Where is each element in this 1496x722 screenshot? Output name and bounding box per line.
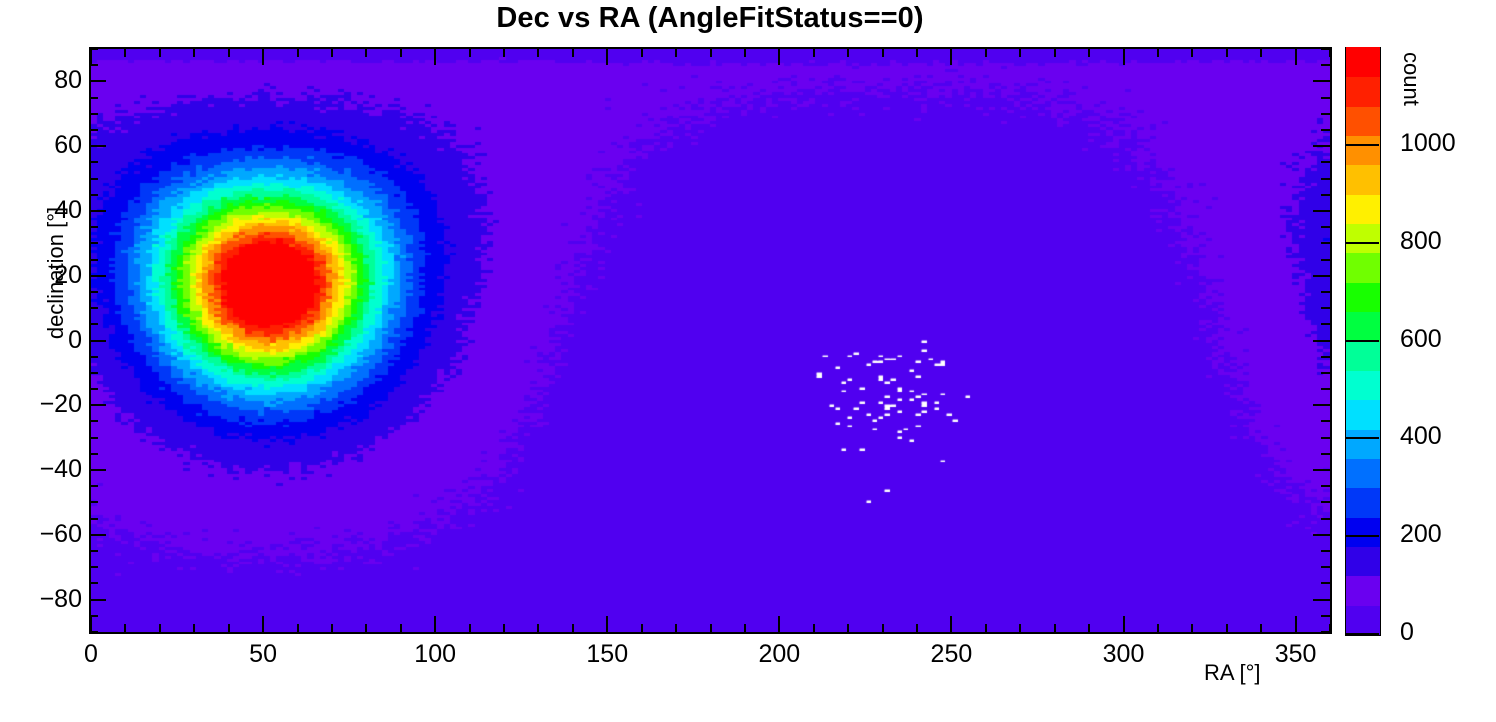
colorbar-band — [1346, 77, 1380, 107]
x-tick — [297, 624, 299, 633]
colorbar-tick-label: 0 — [1400, 620, 1414, 645]
y-tick — [89, 210, 106, 212]
y-tick-right — [1321, 420, 1330, 422]
x-tick — [434, 616, 436, 633]
x-tick-top — [365, 48, 367, 57]
y-tick-right — [1321, 161, 1330, 163]
x-tick-top — [950, 48, 952, 65]
y-tick — [89, 550, 98, 552]
colorbar-title: count — [1398, 52, 1424, 106]
x-axis-title: RA [°] — [1204, 660, 1260, 686]
y-tick-right — [1321, 259, 1330, 261]
x-tick — [1019, 624, 1021, 633]
y-tick-right — [1321, 437, 1330, 439]
colorbar-tick — [1345, 340, 1379, 342]
x-tick-top — [1191, 48, 1193, 57]
y-tick-label: −80 — [40, 587, 82, 612]
y-tick-right — [1321, 550, 1330, 552]
y-tick — [89, 453, 98, 455]
colorbar-band — [1346, 341, 1380, 371]
x-tick — [503, 624, 505, 633]
x-tick-top — [400, 48, 402, 57]
x-tick — [882, 624, 884, 633]
y-tick-right — [1321, 194, 1330, 196]
y-tick — [89, 161, 98, 163]
y-tick — [89, 145, 106, 147]
colorbar-tick — [1345, 144, 1379, 146]
y-tick — [89, 599, 106, 601]
x-tick — [1157, 624, 1159, 633]
colorbar-band — [1346, 546, 1380, 576]
colorbar-tick — [1345, 437, 1379, 439]
y-tick-right — [1321, 485, 1330, 487]
x-tick-top — [744, 48, 746, 57]
x-tick — [365, 624, 367, 633]
x-tick — [1123, 616, 1125, 633]
y-tick-right — [1321, 129, 1330, 131]
colorbar-tick-label: 200 — [1400, 522, 1442, 547]
x-tick — [1054, 624, 1056, 633]
y-tick-right — [1321, 97, 1330, 99]
y-tick-right — [1313, 534, 1330, 536]
x-tick — [985, 624, 987, 633]
y-tick-label: 80 — [54, 68, 82, 93]
colorbar-band — [1346, 576, 1380, 606]
x-tick — [778, 616, 780, 633]
x-tick-label: 50 — [249, 642, 277, 667]
colorbar-band — [1346, 400, 1380, 430]
y-tick — [89, 113, 98, 115]
y-tick-right — [1313, 469, 1330, 471]
y-tick-right — [1321, 453, 1330, 455]
y-tick — [89, 242, 98, 244]
y-tick — [89, 275, 106, 277]
page-title: Dec vs RA (AngleFitStatus==0) — [0, 2, 1420, 35]
y-tick-label: 60 — [54, 133, 82, 158]
x-tick-top — [331, 48, 333, 57]
x-tick-top — [1226, 48, 1228, 57]
y-tick-right — [1321, 178, 1330, 180]
y-axis-title: declination [°] — [43, 183, 69, 363]
x-tick-top — [159, 48, 161, 57]
x-tick-top — [778, 48, 780, 65]
y-tick — [89, 582, 98, 584]
y-tick — [89, 323, 98, 325]
x-tick — [1329, 624, 1331, 633]
x-tick — [331, 624, 333, 633]
colorbar-band — [1346, 429, 1380, 459]
x-tick-label: 350 — [1275, 642, 1317, 667]
plot-canvas: Dec vs RA (AngleFitStatus==0) −80−60−40−… — [0, 0, 1496, 722]
x-tick — [950, 616, 952, 633]
colorbar-band — [1346, 282, 1380, 312]
y-tick — [89, 194, 98, 196]
x-tick-top — [262, 48, 264, 65]
y-tick — [89, 437, 98, 439]
x-tick — [916, 624, 918, 633]
y-tick — [89, 97, 98, 99]
colorbar-tick — [1345, 242, 1379, 244]
colorbar-tick-label: 800 — [1400, 229, 1442, 254]
y-tick-right — [1321, 323, 1330, 325]
colorbar-band — [1346, 370, 1380, 400]
y-tick-right — [1313, 599, 1330, 601]
x-tick — [710, 624, 712, 633]
y-tick — [89, 259, 98, 261]
x-tick-label: 200 — [758, 642, 800, 667]
y-tick-label: −20 — [40, 392, 82, 417]
y-tick-right — [1321, 356, 1330, 358]
y-tick — [89, 566, 98, 568]
colorbar-band — [1346, 253, 1380, 283]
y-tick — [89, 356, 98, 358]
x-tick-top — [710, 48, 712, 57]
colorbar-band — [1346, 517, 1380, 547]
colorbar-band — [1346, 458, 1380, 488]
x-tick-top — [1019, 48, 1021, 57]
y-tick-right — [1313, 210, 1330, 212]
y-tick-right — [1321, 582, 1330, 584]
colorbar-band — [1346, 312, 1380, 342]
x-tick-top — [641, 48, 643, 57]
y-tick — [89, 226, 98, 228]
y-tick — [89, 469, 106, 471]
x-tick-label: 250 — [931, 642, 973, 667]
histogram-image — [91, 49, 1330, 632]
x-tick — [641, 624, 643, 633]
x-tick — [159, 624, 161, 633]
x-tick — [537, 624, 539, 633]
y-tick-right — [1321, 113, 1330, 115]
x-tick — [124, 624, 126, 633]
x-tick — [400, 624, 402, 633]
y-tick — [89, 340, 106, 342]
y-tick — [89, 501, 98, 503]
x-tick — [847, 624, 849, 633]
x-tick — [228, 624, 230, 633]
y-tick — [89, 372, 98, 374]
y-tick — [89, 80, 106, 82]
x-tick — [1260, 624, 1262, 633]
x-tick-top — [90, 48, 92, 65]
y-tick — [89, 518, 98, 520]
x-tick — [469, 624, 471, 633]
x-tick-top — [675, 48, 677, 57]
x-tick-top — [916, 48, 918, 57]
x-tick-top — [469, 48, 471, 57]
x-tick-top — [847, 48, 849, 57]
y-tick-label: 0 — [68, 328, 82, 353]
x-tick — [1191, 624, 1193, 633]
x-tick-top — [193, 48, 195, 57]
x-tick-label: 0 — [84, 642, 98, 667]
x-tick-top — [813, 48, 815, 57]
y-tick-right — [1313, 275, 1330, 277]
colorbar-band — [1346, 605, 1380, 635]
x-tick-top — [1088, 48, 1090, 57]
x-tick-top — [297, 48, 299, 57]
y-tick-right — [1321, 518, 1330, 520]
colorbar-band — [1346, 135, 1380, 165]
y-tick-right — [1321, 307, 1330, 309]
colorbar-band — [1346, 488, 1380, 518]
x-tick — [813, 624, 815, 633]
colorbar-tick-label: 600 — [1400, 327, 1442, 352]
x-tick — [675, 624, 677, 633]
x-tick-top — [1329, 48, 1331, 57]
y-tick-right — [1321, 372, 1330, 374]
x-tick-top — [1123, 48, 1125, 65]
x-tick-label: 300 — [1103, 642, 1145, 667]
colorbar-tick-label: 1000 — [1400, 131, 1456, 156]
y-tick-right — [1313, 404, 1330, 406]
y-tick-right — [1321, 64, 1330, 66]
x-tick-top — [228, 48, 230, 57]
color-scale-bar — [1345, 47, 1381, 636]
y-tick — [89, 291, 98, 293]
y-tick-right — [1321, 615, 1330, 617]
x-tick — [1295, 616, 1297, 633]
x-tick — [572, 624, 574, 633]
x-tick — [1226, 624, 1228, 633]
y-tick — [89, 420, 98, 422]
y-tick-right — [1321, 291, 1330, 293]
x-tick-top — [572, 48, 574, 57]
x-tick — [1088, 624, 1090, 633]
y-tick-right — [1313, 340, 1330, 342]
colorbar-tick — [1345, 633, 1379, 635]
x-tick-top — [124, 48, 126, 57]
y-tick-right — [1321, 566, 1330, 568]
x-tick-top — [1157, 48, 1159, 57]
y-tick-right — [1313, 80, 1330, 82]
y-tick — [89, 404, 106, 406]
x-tick — [90, 616, 92, 633]
colorbar-band — [1346, 106, 1380, 136]
y-tick-label: −60 — [40, 522, 82, 547]
x-tick — [262, 616, 264, 633]
x-tick — [606, 616, 608, 633]
x-tick-top — [1260, 48, 1262, 57]
colorbar-band — [1346, 165, 1380, 195]
y-tick-label: −40 — [40, 457, 82, 482]
y-tick-right — [1321, 501, 1330, 503]
x-tick-top — [985, 48, 987, 57]
x-tick-top — [537, 48, 539, 57]
y-tick — [89, 485, 98, 487]
y-tick-right — [1321, 388, 1330, 390]
x-tick-label: 150 — [586, 642, 628, 667]
y-tick-right — [1321, 226, 1330, 228]
y-tick-right — [1321, 242, 1330, 244]
plot-frame — [89, 47, 1332, 634]
colorbar-tick-label: 400 — [1400, 424, 1442, 449]
y-tick — [89, 307, 98, 309]
x-tick-label: 100 — [414, 642, 456, 667]
colorbar-band — [1346, 47, 1380, 77]
x-tick — [193, 624, 195, 633]
y-tick — [89, 388, 98, 390]
colorbar-tick — [1345, 535, 1379, 537]
y-tick — [89, 178, 98, 180]
colorbar-band — [1346, 194, 1380, 224]
y-tick — [89, 534, 106, 536]
y-tick-right — [1313, 145, 1330, 147]
y-tick — [89, 129, 98, 131]
x-tick-top — [434, 48, 436, 65]
x-tick-top — [1295, 48, 1297, 65]
x-tick-top — [503, 48, 505, 57]
x-tick-top — [1054, 48, 1056, 57]
x-tick-top — [882, 48, 884, 57]
colorbar-band — [1346, 224, 1380, 254]
x-tick-top — [606, 48, 608, 65]
x-tick — [744, 624, 746, 633]
